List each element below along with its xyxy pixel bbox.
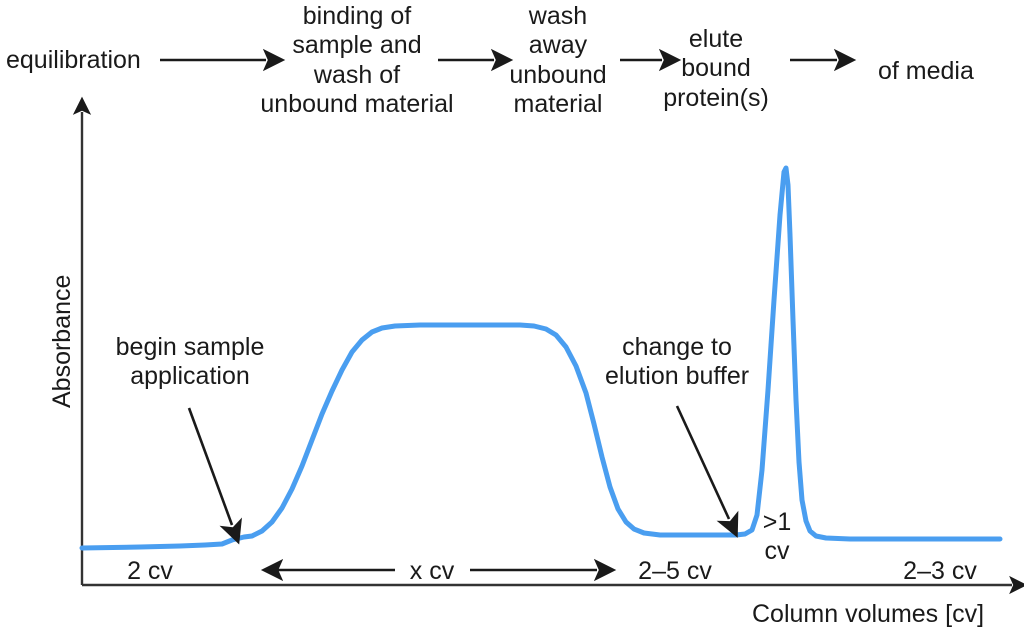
stage-label-wash: wash away unbound material <box>509 2 606 119</box>
segment-label-elution-volume: >1 cv <box>763 508 792 567</box>
segment-label-reequilibration-volume: 2–3 cv <box>903 557 977 586</box>
change-to-elution-buffer-arrow <box>677 406 729 519</box>
segment-label-wash-volume: 2–5 cv <box>638 557 712 586</box>
stage-label-equilibration: equilibration <box>6 46 141 75</box>
y-axis-label: Absorbance <box>48 275 77 408</box>
stage-label-binding: binding of sample and wash of unbound ma… <box>260 2 453 119</box>
stage-label-reequilibration: of media <box>878 57 974 86</box>
segment-label-equilibration-volume: 2 cv <box>127 557 173 586</box>
chromatography-figure: equilibration binding of sample and wash… <box>0 0 1024 638</box>
begin-sample-application-arrow <box>189 408 232 525</box>
segment-label-sample-application-volume: x cv <box>410 557 454 586</box>
annotation-begin-sample-application: begin sample application <box>116 333 265 392</box>
x-axis-label: Column volumes [cv] <box>752 600 984 629</box>
stage-label-elute: elute bound protein(s) <box>663 25 769 113</box>
annotation-change-to-elution-buffer: change to elution buffer <box>605 333 749 392</box>
annotation-arrows <box>189 406 729 525</box>
